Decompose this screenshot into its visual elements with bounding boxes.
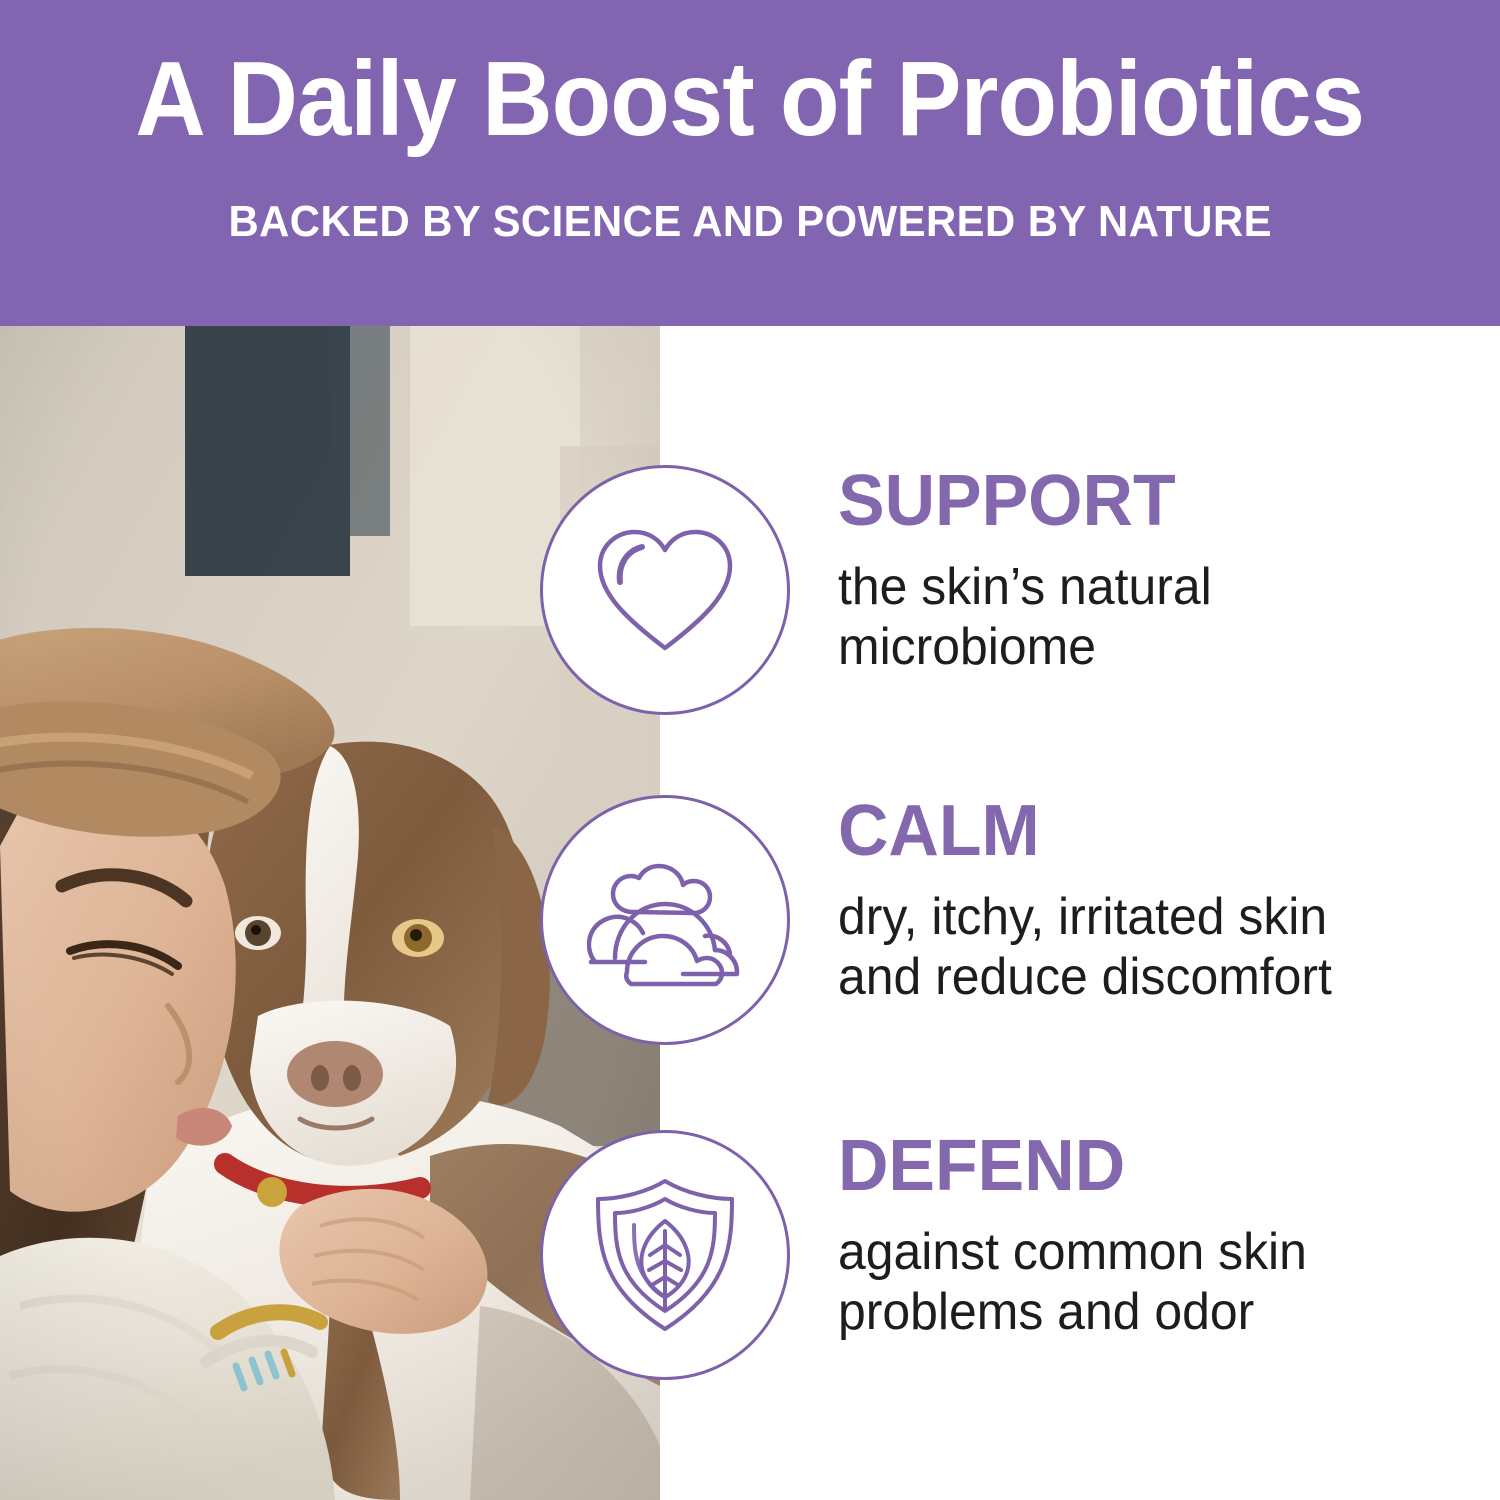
page-title: A Daily Boost of Probiotics xyxy=(136,46,1365,152)
benefit-text-defend: DEFEND against common skin problems and … xyxy=(838,1130,1478,1343)
benefit-body-support: the skin’s natural microbiome xyxy=(838,557,1452,678)
benefit-body-defend: against common skin problems and odor xyxy=(838,1222,1452,1343)
clouds-icon-badge xyxy=(540,795,790,1045)
benefit-text-calm: CALM dry, itchy, irritated skin and redu… xyxy=(838,795,1478,1008)
benefit-text-support: SUPPORT the skin’s natural microbiome xyxy=(838,465,1478,678)
heart-icon xyxy=(590,520,740,660)
benefit-row-calm: CALM dry, itchy, irritated skin and redu… xyxy=(0,795,1500,1045)
marketing-infographic: A Daily Boost of Probiotics BACKED BY SC… xyxy=(0,0,1500,1500)
shield-leaf-icon-badge xyxy=(540,1130,790,1380)
benefit-body-line: against common skin xyxy=(838,1222,1452,1282)
benefit-body-line: problems and odor xyxy=(838,1282,1452,1342)
benefit-body-calm: dry, itchy, irritated skin and reduce di… xyxy=(838,887,1452,1008)
benefit-body-line: the skin’s natural xyxy=(838,557,1452,617)
benefit-body-line: and reduce discomfort xyxy=(838,947,1452,1007)
benefit-row-support: SUPPORT the skin’s natural microbiome xyxy=(0,465,1500,715)
heart-icon-badge xyxy=(540,465,790,715)
shield-leaf-icon xyxy=(590,1177,740,1333)
page-subtitle: BACKED BY SCIENCE AND POWERED BY NATURE xyxy=(228,200,1272,244)
benefit-heading-calm: CALM xyxy=(838,795,1459,867)
header-banner: A Daily Boost of Probiotics BACKED BY SC… xyxy=(0,0,1500,326)
benefit-heading-support: SUPPORT xyxy=(838,465,1459,537)
benefit-body-line: dry, itchy, irritated skin xyxy=(838,887,1452,947)
benefit-row-defend: DEFEND against common skin problems and … xyxy=(0,1130,1500,1380)
benefit-heading-defend: DEFEND xyxy=(838,1130,1459,1202)
benefit-body-line: microbiome xyxy=(838,617,1452,677)
clouds-icon xyxy=(587,850,743,990)
